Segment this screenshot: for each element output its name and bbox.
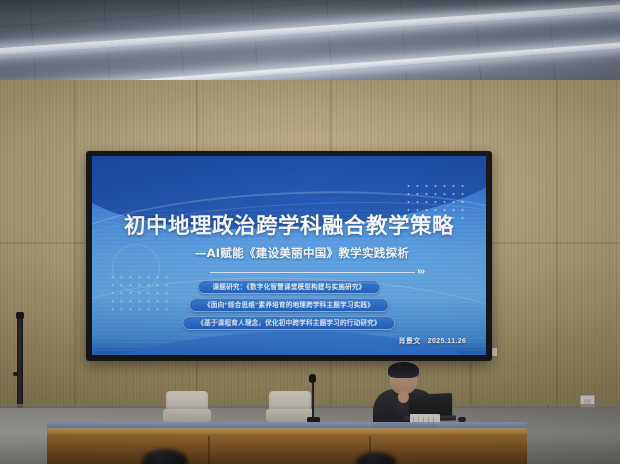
- microphone-head: [309, 374, 316, 383]
- conference-room-photo: 初中地理政治跨学科融合教学策略 —AI赋能《建设美丽中国》教学实践探析 ››› …: [0, 0, 620, 464]
- dark-wall-pole-knob: [13, 372, 19, 376]
- slide-signature: 肖景文2025.11.26: [398, 336, 466, 346]
- wall-mounted-sensor: [492, 348, 497, 356]
- presentation-slide: 初中地理政治跨学科融合教学策略 —AI赋能《建设美丽中国》教学实践探析 ››› …: [92, 156, 486, 355]
- wooden-podium-desk: [47, 434, 527, 464]
- microphone-stem: [312, 380, 314, 418]
- dark-wall-pole-cap: [16, 312, 24, 319]
- presenter-name: 肖景文: [398, 338, 420, 345]
- empty-chair-left: [163, 391, 211, 423]
- chair-back: [166, 391, 208, 410]
- slide-title: 初中地理政治跨学科融合教学策略: [92, 209, 486, 240]
- chevron-right-icon: ›››: [417, 266, 424, 277]
- presenter-hand: [398, 391, 409, 403]
- presenter-hair: [388, 362, 419, 378]
- desk-panel-seam: [208, 436, 210, 464]
- chair-seat: [163, 409, 211, 422]
- slide-subtitle: —AI赋能《建设美丽中国》教学实践探析: [92, 245, 486, 261]
- presentation-date: 2025.11.26: [428, 338, 467, 345]
- chair-back: [269, 391, 311, 410]
- slide-divider-rule: [210, 272, 415, 273]
- wall-mounted-led-screen[interactable]: 初中地理政治跨学科融合教学策略 —AI赋能《建设美丽中国》教学实践探析 ››› …: [86, 151, 492, 361]
